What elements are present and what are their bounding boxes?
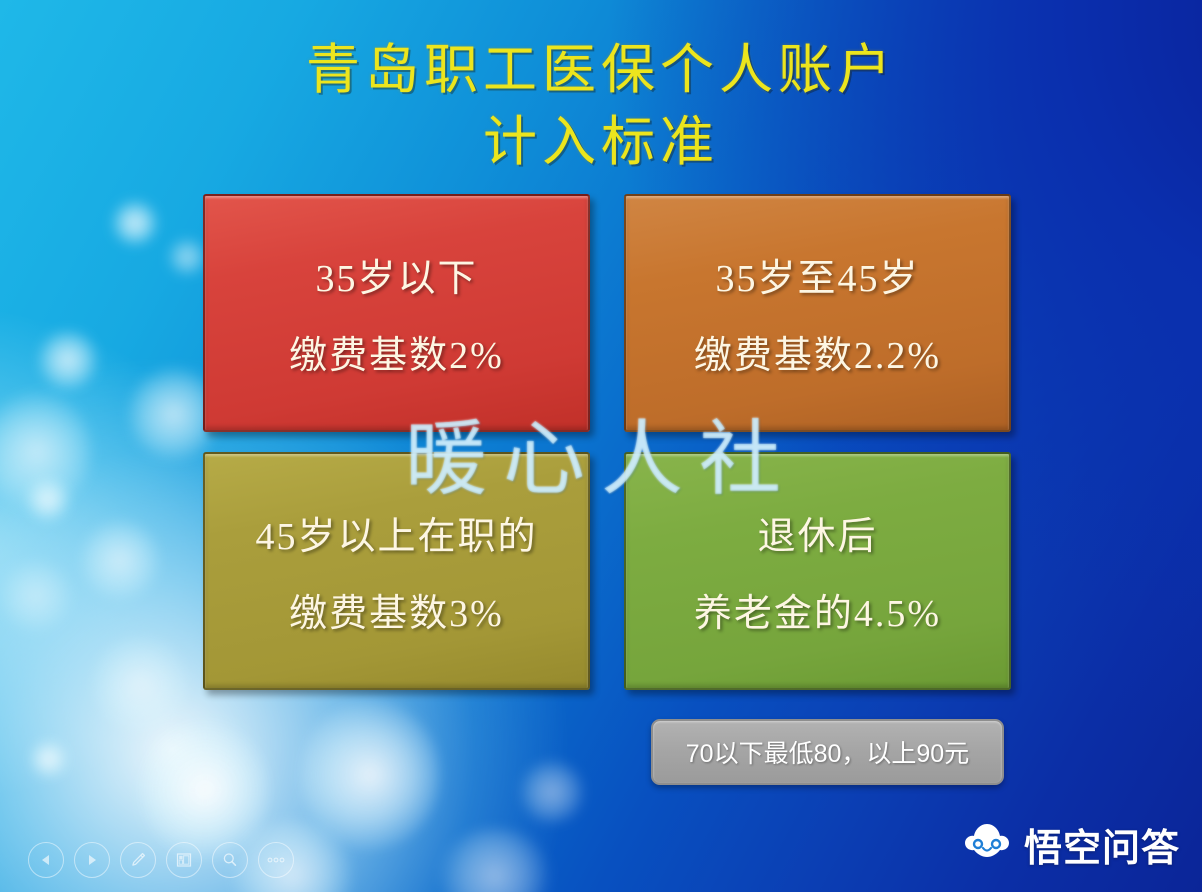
note-box: 70以下最低80，以上90元	[651, 719, 1004, 785]
slide-toolbar	[28, 842, 294, 878]
note-text: 70以下最低80，以上90元	[686, 734, 969, 770]
ellipsis-icon	[266, 856, 286, 864]
card-line-1: 退休后	[757, 505, 877, 560]
more-options-button[interactable]	[258, 842, 294, 878]
card-line-1: 45岁以上在职的	[255, 505, 537, 560]
card-line-1: 35岁至45岁	[715, 247, 919, 302]
magnifier-icon	[221, 851, 239, 869]
slide-layout-button[interactable]	[166, 842, 202, 878]
previous-slide-button[interactable]	[28, 842, 64, 878]
pen-annotate-button[interactable]	[120, 842, 156, 878]
grid-layout-icon	[175, 851, 193, 869]
triangle-left-icon	[39, 853, 53, 867]
card-line-2: 缴费基数2.2%	[694, 324, 941, 379]
card-line-2: 缴费基数2%	[289, 324, 504, 379]
card-line-2: 养老金的4.5%	[694, 582, 941, 637]
next-slide-button[interactable]	[74, 842, 110, 878]
card-grid: 35岁以下 缴费基数2% 35岁至45岁 缴费基数2.2% 45岁以上在职的 缴…	[203, 194, 1011, 690]
triangle-right-icon	[85, 853, 99, 867]
card-line-2: 缴费基数3%	[289, 582, 504, 637]
card-35-to-45: 35岁至45岁 缴费基数2.2%	[624, 194, 1011, 432]
card-retired: 退休后 养老金的4.5%	[624, 452, 1011, 690]
card-over-45-working: 45岁以上在职的 缴费基数3%	[203, 452, 590, 690]
zoom-magnify-button[interactable]	[212, 842, 248, 878]
card-under-35: 35岁以下 缴费基数2%	[203, 194, 590, 432]
pen-icon	[129, 851, 147, 869]
card-line-1: 35岁以下	[315, 247, 477, 302]
presentation-slide: 青岛职工医保个人账户计入标准 35岁以下 缴费基数2% 35岁至45岁 缴费基数…	[0, 0, 1202, 892]
